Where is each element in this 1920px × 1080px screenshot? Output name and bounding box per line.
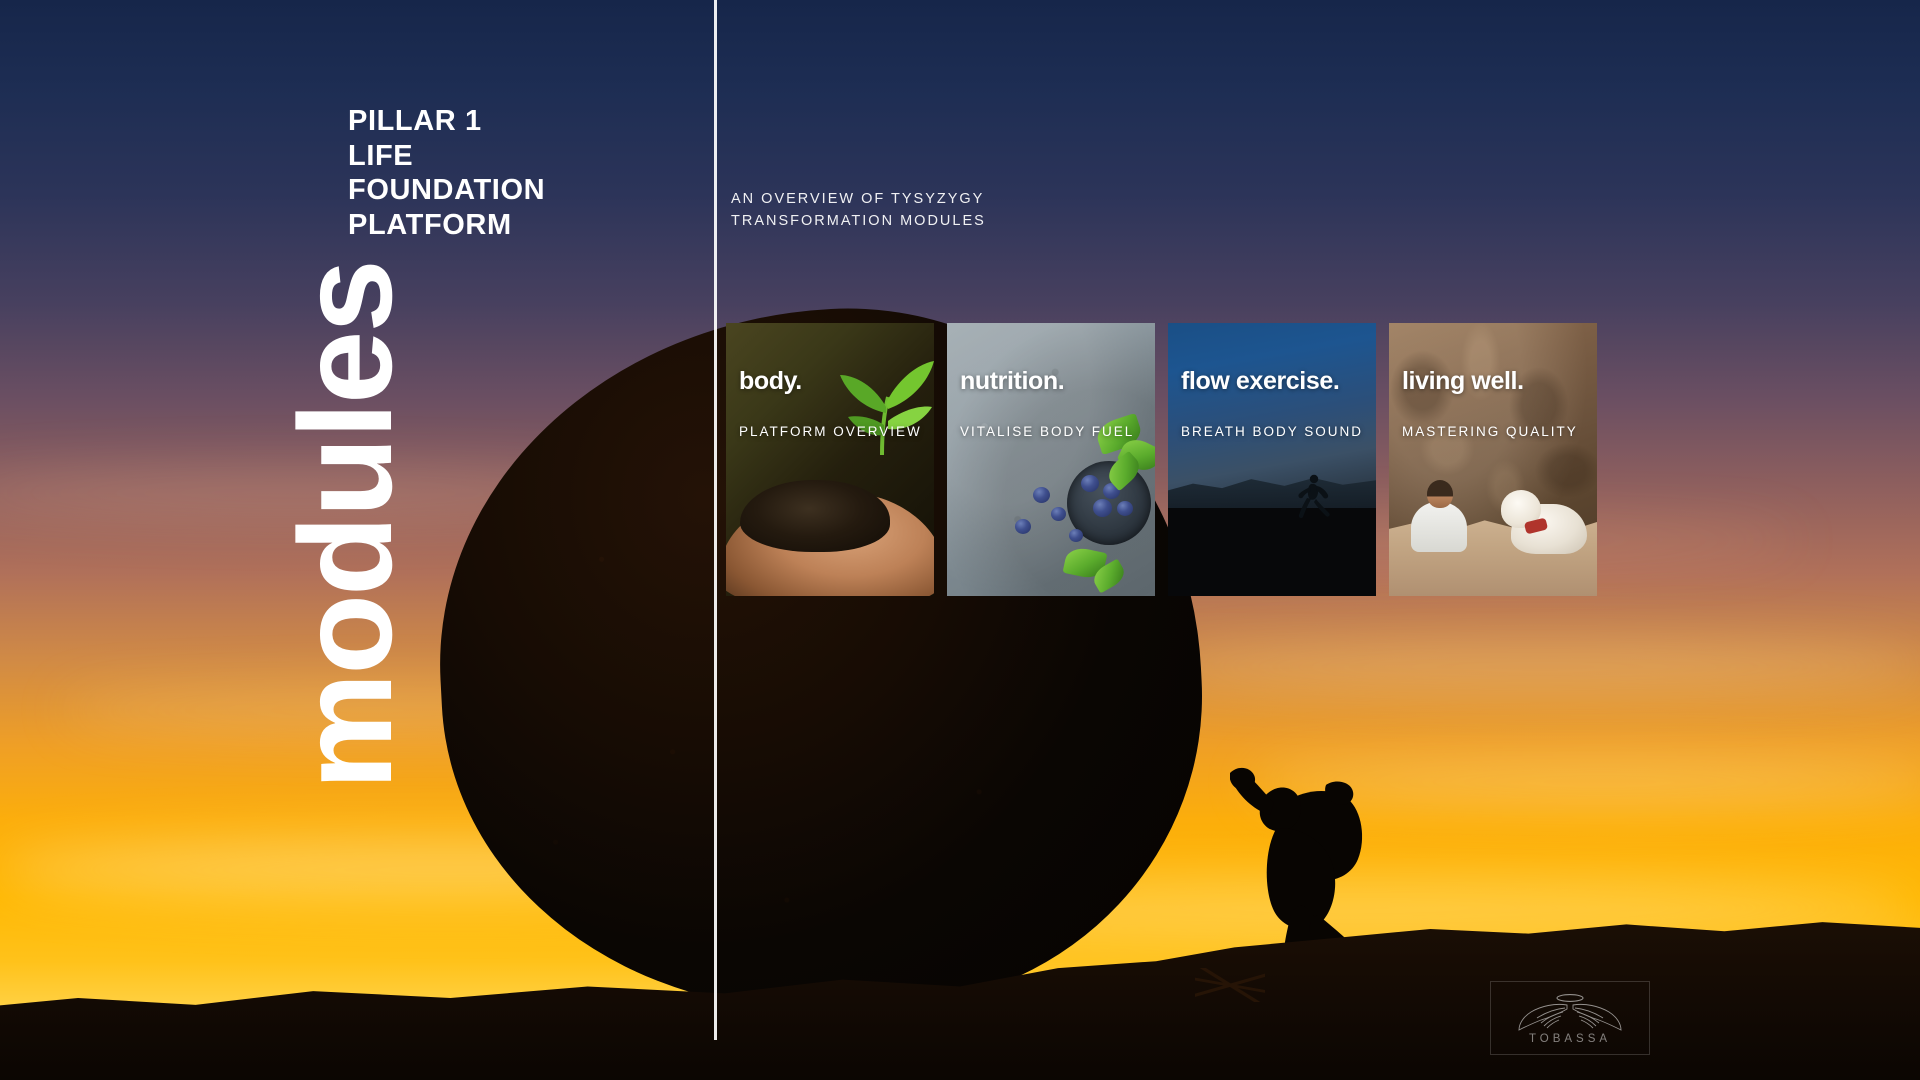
title-line-3: FOUNDATION <box>348 173 688 208</box>
slide-subtitle: AN OVERVIEW OF TYSYZYGY TRANSFORMATION M… <box>731 188 986 232</box>
runner-silhouette <box>1294 473 1332 519</box>
distant-hills <box>1168 459 1376 515</box>
dog-figure <box>1501 478 1587 554</box>
module-card-flow-exercise[interactable]: flow exercise. BREATH BODY SOUND <box>1168 323 1376 596</box>
module-card-title: flow exercise. <box>1181 367 1339 396</box>
page-title: PILLAR 1 LIFE FOUNDATION PLATFORM <box>348 104 688 242</box>
module-card-subtitle: PLATFORM OVERVIEW <box>739 424 922 439</box>
blueberry <box>1069 529 1083 542</box>
man-head <box>1427 480 1453 508</box>
man-with-dog-on-beach-photo <box>1389 323 1597 596</box>
grass-tuft <box>1195 968 1265 1002</box>
blueberry <box>1081 475 1099 492</box>
module-card-living-well[interactable]: living well. MASTERING QUALITY <box>1389 323 1597 596</box>
brand-watermark: TOBASSA <box>1490 981 1650 1055</box>
seedling-in-hands-photo <box>726 323 934 596</box>
blueberry <box>1015 519 1031 534</box>
module-card-subtitle: VITALISE BODY FUEL <box>960 424 1134 439</box>
white-shirt <box>1411 502 1467 552</box>
module-card-subtitle: MASTERING QUALITY <box>1402 424 1578 439</box>
sprout-icon <box>834 347 934 457</box>
soil-mound-shape <box>740 480 890 552</box>
module-card-title: living well. <box>1402 367 1524 396</box>
subtitle-line-2: TRANSFORMATION MODULES <box>731 210 986 232</box>
blueberry <box>1051 507 1066 521</box>
module-card-row: body. PLATFORM OVERVIEW <box>726 323 1597 596</box>
vertical-section-label: modules <box>285 230 405 790</box>
title-line-2: LIFE <box>348 139 688 174</box>
module-card-nutrition[interactable]: nutrition. VITALISE BODY FUEL <box>947 323 1155 596</box>
module-card-title: body. <box>739 367 802 396</box>
runner-at-dusk-photo <box>1168 323 1376 596</box>
brand-name: TOBASSA <box>1529 1033 1611 1045</box>
blueberries-and-mint-on-slate-photo <box>947 323 1155 596</box>
blueberry <box>1117 501 1133 516</box>
module-card-body[interactable]: body. PLATFORM OVERVIEW <box>726 323 934 596</box>
man-figure <box>1407 478 1471 552</box>
title-line-1: PILLAR 1 <box>348 104 688 139</box>
blueberry <box>1033 487 1050 503</box>
angel-wings-halo-logo-icon <box>1511 992 1629 1032</box>
blueberry <box>1093 499 1112 517</box>
module-card-subtitle: BREATH BODY SOUND <box>1181 424 1363 439</box>
module-card-title: nutrition. <box>960 367 1064 396</box>
vertical-divider-line <box>714 0 717 1040</box>
subtitle-line-1: AN OVERVIEW OF TYSYZYGY <box>731 188 986 210</box>
slide-canvas: PILLAR 1 LIFE FOUNDATION PLATFORM module… <box>0 0 1920 1080</box>
dark-foreground-band <box>1168 508 1376 596</box>
